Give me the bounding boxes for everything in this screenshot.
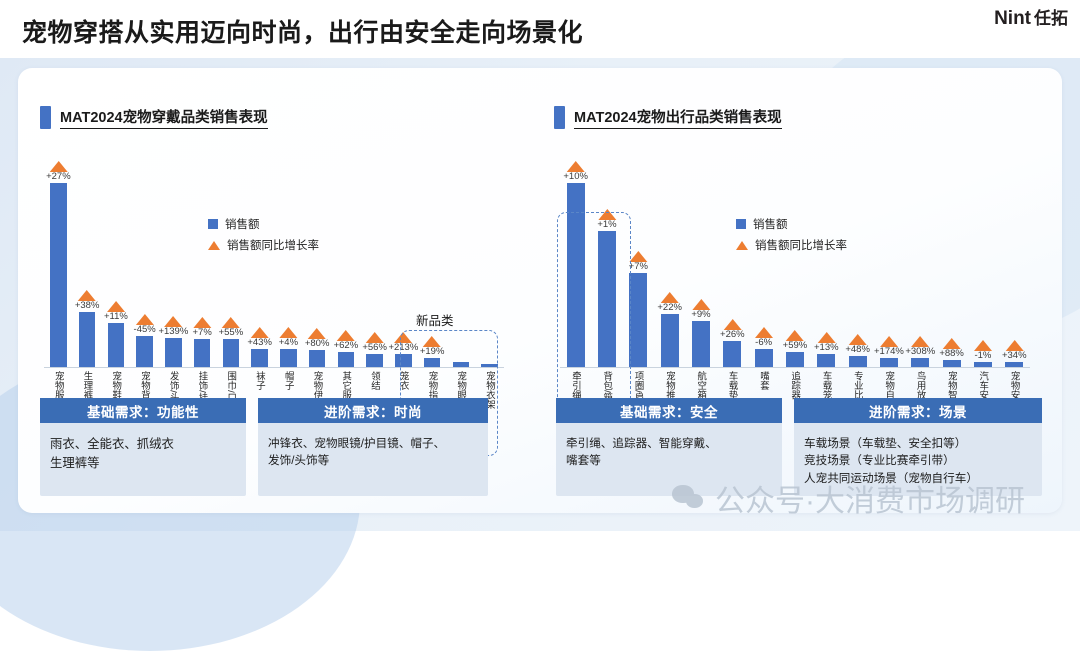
growth-rate-label: +56% [362,343,387,353]
growth-rate-label: +9% [691,310,710,320]
growth-rate-label: +308% [905,347,935,357]
bar-column[interactable]: +62% [332,156,361,367]
legend-item-sales: 销售额 [208,216,319,232]
sales-bar[interactable] [165,338,182,367]
legend-label-sales: 销售额 [225,216,260,232]
bar-column[interactable]: +55% [217,156,246,367]
demand-box-line: 雨衣、全能衣、抓绒衣 [50,435,236,454]
panel-left-title: MAT2024宠物穿戴品类销售表现 [40,106,268,129]
bar-column[interactable]: +174% [873,156,904,367]
sales-bar[interactable] [692,321,710,367]
sales-bar[interactable] [338,352,355,367]
growth-rate-label: -45% [134,325,156,335]
growth-marker: -6% [755,327,773,348]
sales-bar[interactable] [786,352,804,367]
sales-bar[interactable] [943,360,961,367]
growth-rate-label: +34% [1002,351,1027,361]
legend-item-sales: 销售额 [736,216,847,232]
demand-box-advanced-scenario: 进阶需求：场景 车载场景（车载垫、安全扣等）竞技场景（专业比赛牵引带）人宠共同运… [794,398,1042,496]
bar-column[interactable]: +56% [360,156,389,367]
demand-box-advanced-scenario-body: 车载场景（车载垫、安全扣等）竞技场景（专业比赛牵引带）人宠共同运动场景（宠物自行… [794,423,1042,495]
bar-column[interactable] [447,156,476,367]
sales-bar[interactable] [849,356,867,367]
growth-marker: +62% [334,330,359,351]
legend-label-sales: 销售额 [753,216,788,232]
demand-box-basic-function: 基础需求：功能性 雨衣、全能衣、抓绒衣生理裤等 [40,398,246,496]
legend-label-growth: 销售额同比增长率 [227,237,319,253]
demand-box-basic-function-body: 雨衣、全能衣、抓绒衣生理裤等 [40,423,246,480]
growth-rate-label: +22% [657,303,682,313]
growth-marker: +22% [657,292,682,313]
demand-box-basic-function-head: 基础需求：功能性 [40,398,246,423]
growth-rate-label: +174% [874,347,904,357]
bar-column[interactable]: +7% [623,156,654,367]
bar-column[interactable]: +4% [274,156,303,367]
legend-swatch-triangle-icon [736,241,748,250]
legend-item-growth: 销售额同比增长率 [736,237,847,253]
sales-bar[interactable] [136,336,153,367]
bar-column[interactable]: +38% [73,156,102,367]
growth-marker: +308% [905,336,935,357]
growth-rate-label: -6% [755,338,772,348]
sales-bar[interactable] [567,183,585,367]
growth-rate-label: +43% [247,338,272,348]
legend-swatch-triangle-icon [208,241,220,250]
growth-rate-label: +13% [814,343,839,353]
bar-column[interactable]: -45% [130,156,159,367]
bar-column[interactable]: +27% [44,156,73,367]
chart-right-axis [560,367,1030,368]
growth-rate-label: +27% [46,172,71,182]
growth-rate-label: +139% [158,327,188,337]
bar-column[interactable]: +19% [418,156,447,367]
demand-box-line: 车载场景（车载垫、安全扣等） [804,435,1032,452]
chart-left-axis [44,367,504,368]
growth-marker: +34% [1002,340,1027,361]
growth-marker: +55% [219,317,244,338]
growth-rate-label: +4% [279,338,298,348]
bar-column[interactable]: +34% [999,156,1030,367]
bar-column[interactable]: +26% [717,156,748,367]
content-card: MAT2024宠物穿戴品类销售表现 +27%+38%+11%-45%+139%+… [18,68,1062,513]
demand-box-line: 嘴套等 [566,452,772,469]
chart-right-plot: +10%+1%+7%+22%+9%+26%-6%+59%+13%+48%+174… [560,156,1030,368]
growth-marker: +213% [388,332,418,353]
sales-bar[interactable] [723,341,741,367]
bar-column[interactable] [475,156,504,367]
sales-bar[interactable] [194,339,211,367]
demand-box-line: 人宠共同运动场景（宠物自行车） [804,470,1032,487]
bar-column[interactable]: +13% [811,156,842,367]
bar-column[interactable]: +59% [779,156,810,367]
sales-bar[interactable] [251,349,268,367]
demand-box-advanced-scenario-head: 进阶需求：场景 [794,398,1042,423]
bar-column[interactable]: +48% [842,156,873,367]
chart-right-legend: 销售额 销售额同比增长率 [736,216,847,253]
demand-box-basic-safety: 基础需求：安全 牵引绳、追踪器、智能穿戴、嘴套等 [556,398,782,496]
growth-rate-label: -1% [974,351,991,361]
bar-column[interactable]: +213% [389,156,418,367]
panel-pet-travel: MAT2024宠物出行品类销售表现 +10%+1%+7%+22%+9%+26%-… [530,68,1062,513]
sales-bar[interactable] [280,349,297,367]
growth-marker: +48% [845,334,870,355]
sales-bar[interactable] [755,349,773,367]
growth-rate-label: +11% [104,312,128,322]
growth-marker: +26% [720,319,745,340]
title-marker-icon [554,106,565,129]
growth-marker: +38% [75,290,100,311]
growth-marker: +56% [362,332,387,353]
legend-label-growth: 销售额同比增长率 [755,237,847,253]
growth-rate-label: +59% [783,341,808,351]
title-marker-icon [40,106,51,129]
sales-bar[interactable] [629,273,647,367]
growth-rate-label: +48% [845,345,870,355]
bar-column[interactable]: +1% [591,156,622,367]
growth-marker: -45% [134,314,156,335]
growth-marker: +174% [874,336,904,357]
demand-box-line: 生理裤等 [50,454,236,473]
bar-column[interactable]: +308% [905,156,936,367]
bar-column[interactable]: +7% [188,156,217,367]
sales-bar[interactable] [309,350,326,367]
panel-pet-wearables: MAT2024宠物穿戴品类销售表现 +27%+38%+11%-45%+139%+… [18,68,530,513]
bar-column[interactable]: +139% [159,156,188,367]
legend-swatch-bar-icon [736,219,746,229]
sales-bar[interactable] [598,231,616,367]
bar-column[interactable]: +80% [303,156,332,367]
growth-rate-label: +26% [720,330,745,340]
logo-cn-text: 任拓 [1034,9,1068,28]
brand-logo: Nint任拓 [994,4,1068,30]
chart-right-bars: +10%+1%+7%+22%+9%+26%-6%+59%+13%+48%+174… [560,156,1030,367]
growth-marker: +9% [691,299,710,320]
sales-bar[interactable] [395,354,412,367]
growth-marker: +7% [192,317,211,338]
demand-box-line: 竞技场景（专业比赛牵引带） [804,452,1032,469]
growth-marker: +10% [563,161,588,182]
demand-box-advanced-fashion: 进阶需求：时尚 冲锋衣、宠物眼镜/护目镜、帽子、发饰/头饰等 [258,398,488,496]
demand-box-advanced-fashion-head: 进阶需求：时尚 [258,398,488,423]
growth-marker: +1% [597,209,616,230]
bar-column[interactable]: +9% [685,156,716,367]
demand-box-line: 发饰/头饰等 [268,452,478,469]
bar-column[interactable]: -1% [967,156,998,367]
demand-box-line: 牵引绳、追踪器、智能穿戴、 [566,435,772,452]
sales-bar[interactable] [108,323,125,367]
sales-bar[interactable] [911,358,929,367]
demand-box-line: 冲锋衣、宠物眼镜/护目镜、帽子、 [268,435,478,452]
slide-header: 宠物穿搭从实用迈向时尚，出行由安全走向场景化 Nint任拓 [0,0,1080,58]
bar-column[interactable]: +11% [102,156,131,367]
page-title: 宠物穿搭从实用迈向时尚，出行由安全走向场景化 [22,13,583,49]
growth-rate-label: +7% [192,328,211,338]
growth-marker: +11% [104,301,128,322]
growth-rate-label: +88% [939,349,964,359]
growth-marker: +80% [305,328,330,349]
growth-rate-label: +80% [305,339,330,349]
sales-bar[interactable] [50,183,67,367]
bar-column[interactable]: -6% [748,156,779,367]
growth-rate-label: +38% [75,301,100,311]
logo-latin-text: Nint [994,8,1031,29]
highlight-label-new-category: 新品类 [416,310,454,329]
sales-bar[interactable] [79,312,96,367]
demand-box-basic-safety-head: 基础需求：安全 [556,398,782,423]
chart-left-legend: 销售额 销售额同比增长率 [208,216,319,253]
growth-marker: +139% [158,316,188,337]
growth-marker: +13% [814,332,839,353]
demand-box-advanced-fashion-body: 冲锋衣、宠物眼镜/护目镜、帽子、发饰/头饰等 [258,423,488,478]
demand-box-basic-safety-body: 牵引绳、追踪器、智能穿戴、嘴套等 [556,423,782,478]
sales-bar[interactable] [817,354,835,367]
sales-bar[interactable] [661,314,679,367]
slide-root: 宠物穿搭从实用迈向时尚，出行由安全走向场景化 Nint任拓 MAT2024宠物穿… [0,0,1080,531]
chart-left-bars: +27%+38%+11%-45%+139%+7%+55%+43%+4%+80%+… [44,156,504,367]
legend-item-growth: 销售额同比增长率 [208,237,319,253]
sales-bar[interactable] [424,358,441,367]
sales-bar[interactable] [880,358,898,367]
bar-column[interactable]: +43% [245,156,274,367]
growth-marker: +19% [420,336,445,357]
panel-right-title: MAT2024宠物出行品类销售表现 [554,106,782,129]
growth-rate-label: +7% [629,262,648,272]
growth-marker: +7% [629,251,648,272]
bar-column[interactable]: +10% [560,156,591,367]
panel-right-title-text: MAT2024宠物出行品类销售表现 [574,106,782,129]
growth-rate-label: +19% [420,347,445,357]
growth-marker: +59% [783,330,808,351]
bar-column[interactable]: +22% [654,156,685,367]
panel-left-title-text: MAT2024宠物穿戴品类销售表现 [60,106,268,129]
growth-rate-label: +55% [219,328,244,338]
growth-rate-label: +10% [563,172,588,182]
growth-rate-label: +213% [388,343,418,353]
sales-bar[interactable] [366,354,383,367]
growth-marker: +27% [46,161,71,182]
growth-rate-label: +62% [334,341,359,351]
growth-marker: +88% [939,338,964,359]
sales-bar[interactable] [223,339,240,367]
growth-rate-label: +1% [597,220,616,230]
legend-swatch-bar-icon [208,219,218,229]
growth-marker: +43% [247,327,272,348]
bar-column[interactable]: +88% [936,156,967,367]
growth-marker: -1% [974,340,992,361]
growth-marker: +4% [279,327,298,348]
chart-left-plot: +27%+38%+11%-45%+139%+7%+55%+43%+4%+80%+… [44,156,504,368]
